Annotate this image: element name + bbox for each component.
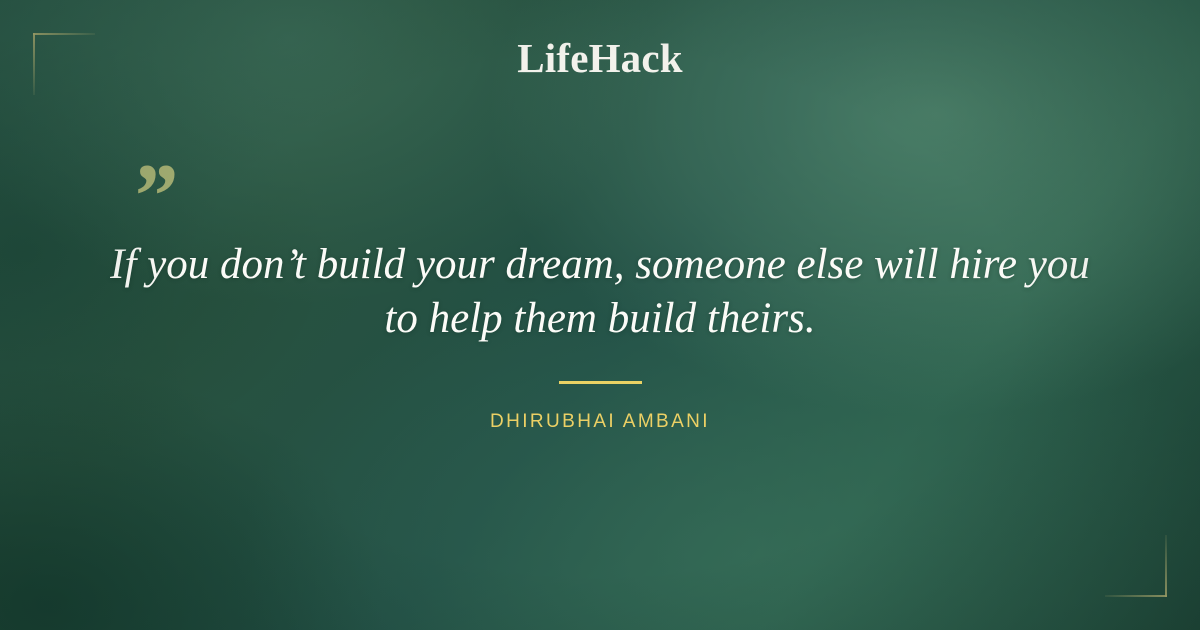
corner-bracket-bottom-right-horizontal-arm (1105, 595, 1167, 597)
corner-bracket-bottom-right-vertical-arm (1165, 535, 1167, 597)
brand-logo: LifeHack (0, 38, 1200, 79)
quote-container: If you don’t build your dream, someone e… (100, 238, 1100, 346)
quote-text: If you don’t build your dream, someone e… (100, 238, 1100, 346)
quote-poster: LifeHack ” If you don’t build your dream… (0, 0, 1200, 630)
quote-author: DHIRUBHAI AMBANI (0, 411, 1200, 434)
corner-bracket-top-left-horizontal-arm (33, 33, 95, 35)
corner-bracket-bottom-right-icon (1105, 535, 1167, 597)
quotation-mark-icon: ” (130, 150, 176, 242)
attribution-divider (559, 381, 642, 384)
